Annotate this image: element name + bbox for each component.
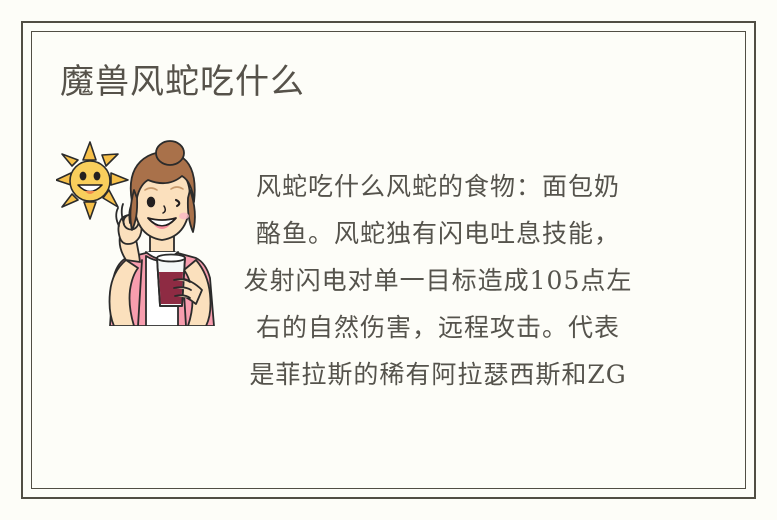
article-line: 酪鱼。风蛇独有闪电吐息技能， xyxy=(228,210,648,257)
woman-figure xyxy=(110,141,215,326)
page-title: 魔兽风蛇吃什么 xyxy=(60,60,305,104)
illustration-woman-drinking-juice-with-sun xyxy=(56,140,220,326)
sun-icon xyxy=(56,142,128,219)
article-line: 风蛇吃什么风蛇的食物：面包奶 xyxy=(228,163,648,210)
article-line: 右的自然伤害，远程攻击。代表 xyxy=(228,304,648,351)
article-line: 是菲拉斯的稀有阿拉瑟西斯和ZG xyxy=(228,351,648,398)
article-line: 发射闪电对单一目标造成105点左 xyxy=(228,257,648,304)
article-body: 风蛇吃什么风蛇的食物：面包奶 酪鱼。风蛇独有闪电吐息技能， 发射闪电对单一目标造… xyxy=(228,163,648,398)
page-root: 魔兽风蛇吃什么 xyxy=(0,0,777,520)
